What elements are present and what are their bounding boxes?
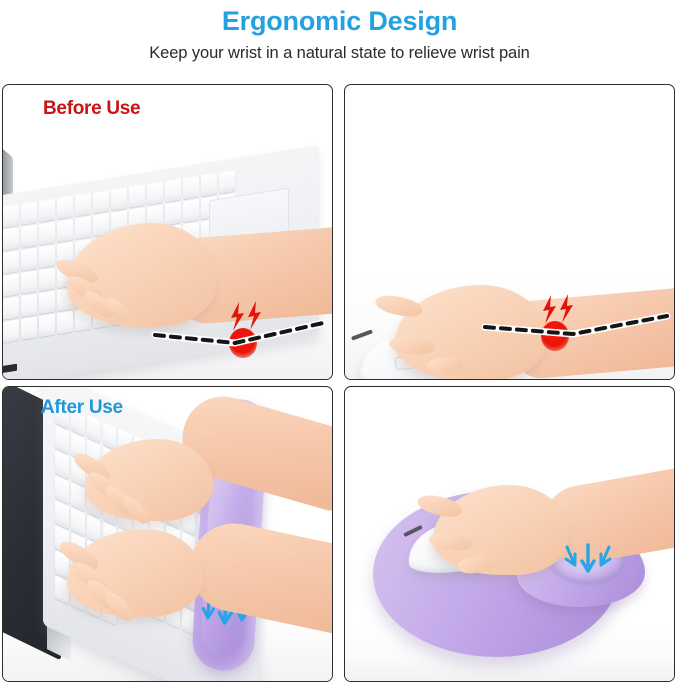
panel-label-before: Before Use	[43, 98, 140, 120]
page-subtitle: Keep your wrist in a natural state to re…	[0, 41, 679, 65]
scene-after-keyboard	[3, 387, 332, 681]
scene-before-keyboard	[3, 85, 332, 379]
panel-after-keyboard: After Use	[2, 386, 333, 682]
panel-before-mouse	[344, 84, 675, 380]
cushion-arrows	[559, 543, 617, 579]
scene-after-mouse	[345, 387, 674, 681]
laptop-badge	[2, 364, 17, 374]
panel-before-keyboard: Before Use	[2, 84, 333, 380]
pain-lightning-icon	[225, 300, 271, 334]
infographic-header: Ergonomic Design Keep your wrist in a na…	[0, 0, 679, 65]
comparison-grid: Before Use	[2, 84, 676, 682]
panel-label-after: After Use	[41, 397, 123, 419]
scene-before-mouse	[345, 85, 674, 379]
panel-after-mouse	[344, 386, 675, 682]
page-title: Ergonomic Design	[0, 4, 679, 38]
pain-lightning-icon	[537, 293, 583, 327]
